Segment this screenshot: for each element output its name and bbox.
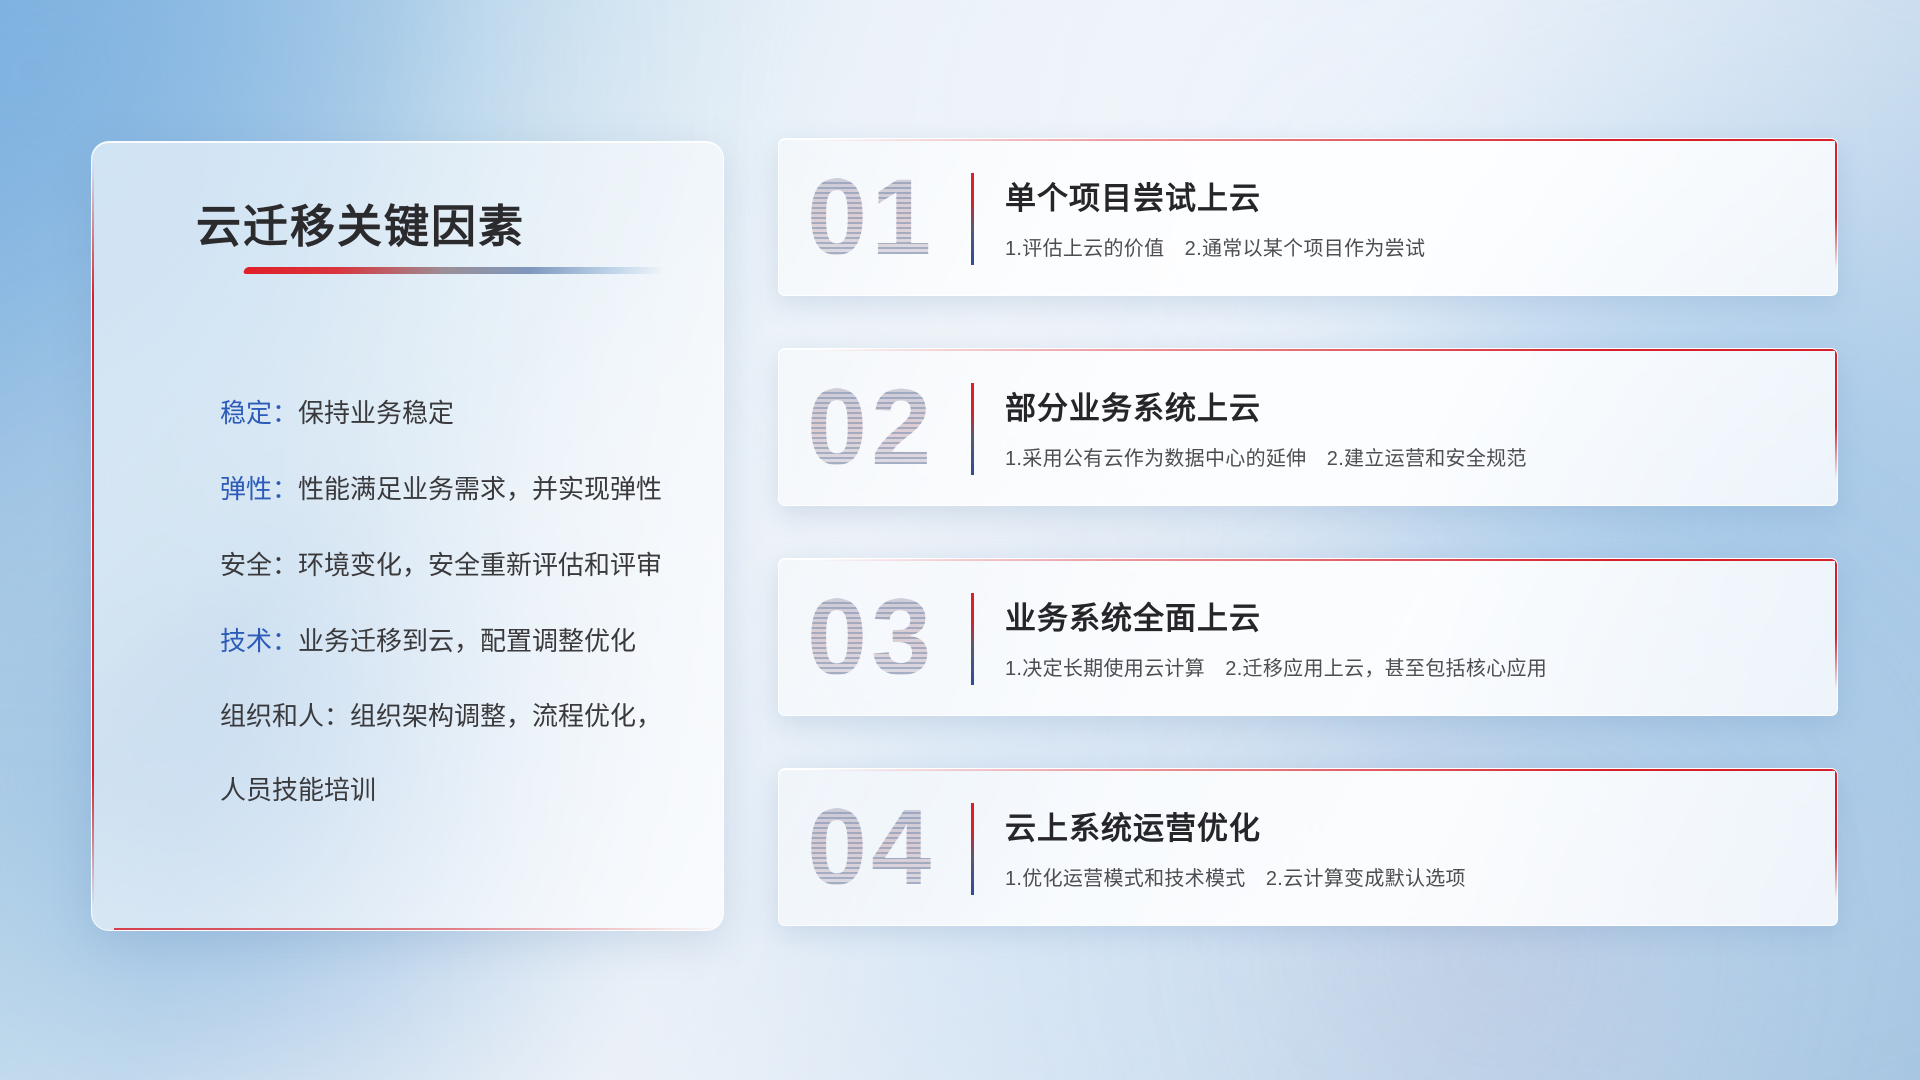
list-item-key: 组织和人： (220, 701, 350, 731)
list-item-value: 性能满足业务需求，并实现弹性 (298, 474, 662, 504)
stage-description: 1.优化运营模式和技术模式 2.云计算变成默认选项 (1005, 862, 1466, 891)
list-item: 技术：业务迁移到云，配置调整优化 (220, 603, 687, 679)
list-item: 稳定：保持业务稳定 (220, 375, 687, 451)
stage-card-03[interactable]: 03 业务系统全面上云 1.决定长期使用云计算 2.迁移应用上云，甚至包括核心应… (778, 558, 1838, 716)
stage-number: 01 (807, 147, 935, 287)
stage-accent-bar (971, 383, 974, 475)
stage-description: 1.决定长期使用云计算 2.迁移应用上云，甚至包括核心应用 (1005, 652, 1547, 681)
stage-title: 单个项目尝试上云 (1005, 173, 1261, 218)
list-item-value: 保持业务稳定 (298, 398, 454, 428)
stage-number: 03 (807, 567, 935, 707)
page-title: 云迁移关键因素 (196, 190, 525, 255)
list-item: 安全：环境变化，安全重新评估和评审 (220, 527, 687, 603)
stage-number: 04 (807, 777, 935, 917)
stage-number: 02 (807, 357, 935, 497)
key-factors-panel: 云迁移关键因素 稳定：保持业务稳定 弹性：性能满足业务需求，并实现弹性 安全：环… (91, 141, 724, 931)
list-item-value: 业务迁移到云，配置调整优化 (298, 626, 636, 656)
stage-description: 1.评估上云的价值 2.通常以某个项目作为尝试 (1005, 232, 1425, 261)
stage-title: 部分业务系统上云 (1005, 383, 1261, 428)
list-item-key: 安全： (220, 550, 298, 580)
list-item-key: 技术： (220, 626, 298, 656)
stage-accent-bar (971, 593, 974, 685)
list-item-value: 环境变化，安全重新评估和评审 (298, 550, 662, 580)
list-item-key: 弹性： (220, 474, 298, 504)
stage-description: 1.采用公有云作为数据中心的延伸 2.建立运营和安全规范 (1005, 442, 1527, 471)
list-item-key: 稳定： (220, 398, 298, 428)
stage-card-02[interactable]: 02 部分业务系统上云 1.采用公有云作为数据中心的延伸 2.建立运营和安全规范 (778, 348, 1838, 506)
list-item: 弹性：性能满足业务需求，并实现弹性 (220, 451, 687, 527)
key-factors-list: 稳定：保持业务稳定 弹性：性能满足业务需求，并实现弹性 安全：环境变化，安全重新… (220, 375, 687, 827)
stage-accent-bar (971, 173, 974, 265)
list-item: 组织和人：组织架构调整，流程优化，人员技能培训 (220, 679, 687, 827)
stage-card-01[interactable]: 01 单个项目尝试上云 1.评估上云的价值 2.通常以某个项目作为尝试 (778, 138, 1838, 296)
stages-card-list: 01 单个项目尝试上云 1.评估上云的价值 2.通常以某个项目作为尝试 02 部… (778, 138, 1838, 978)
stage-title: 云上系统运营优化 (1005, 803, 1261, 848)
stage-title: 业务系统全面上云 (1005, 593, 1261, 638)
stage-card-04[interactable]: 04 云上系统运营优化 1.优化运营模式和技术模式 2.云计算变成默认选项 (778, 768, 1838, 926)
stage-accent-bar (971, 803, 974, 895)
title-underline-accent (242, 267, 665, 274)
